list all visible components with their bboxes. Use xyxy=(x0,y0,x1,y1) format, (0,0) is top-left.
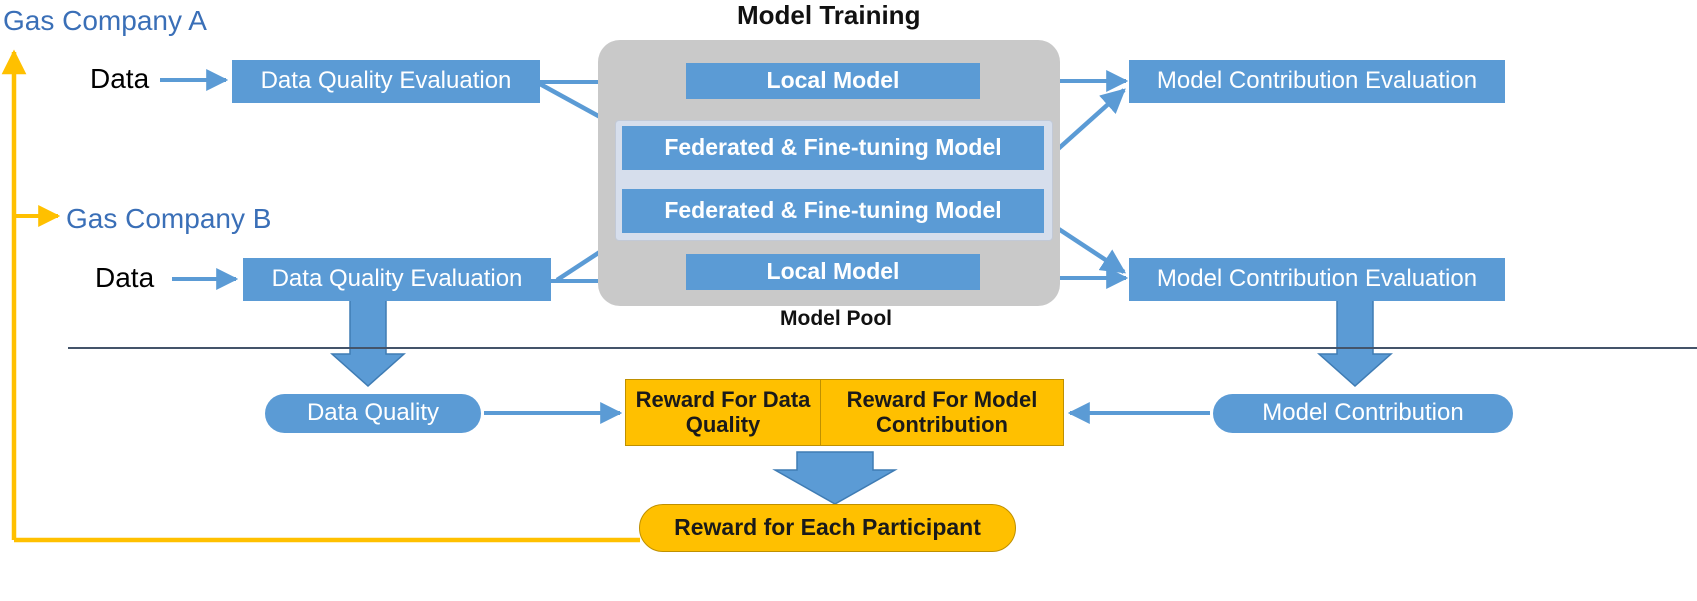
model-pool-item-local-model-bottom-label: Local Model xyxy=(767,259,900,285)
final-reward-label: Reward for Each Participant xyxy=(674,515,981,541)
model-contribution-pill-label: Model Contribution xyxy=(1262,400,1463,427)
block-arrow-down-data-quality xyxy=(332,300,404,386)
model-pool-title: Model Pool xyxy=(780,307,892,331)
data-quality-pill[interactable]: Data Quality xyxy=(265,394,481,433)
reward-for-data-quality-label: Reward For Data Quality xyxy=(634,388,812,437)
final-reward-pill[interactable]: Reward for Each Participant xyxy=(639,504,1016,552)
model-contribution-evaluation-b-label: Model Contribution Evaluation xyxy=(1157,266,1477,293)
model-pool-item-federated-1[interactable]: Federated & Fine-tuning Model xyxy=(622,126,1044,170)
section-divider xyxy=(68,347,1697,349)
diagram-canvas: Model Training Model Pool Gas Company A … xyxy=(0,0,1697,601)
model-contribution-evaluation-a-label: Model Contribution Evaluation xyxy=(1157,68,1477,95)
company-label-a: Gas Company A xyxy=(3,5,207,37)
data-quality-evaluation-b-label: Data Quality Evaluation xyxy=(272,266,523,293)
block-arrow-down-final-reward xyxy=(775,452,895,504)
model-pool-item-local-model-top-label: Local Model xyxy=(767,68,900,94)
model-pool-item-federated-1-label: Federated & Fine-tuning Model xyxy=(664,135,1001,161)
data-quality-evaluation-b[interactable]: Data Quality Evaluation xyxy=(243,258,551,301)
reward-for-model-contribution-label: Reward For Model Contribution xyxy=(829,388,1055,437)
model-contribution-evaluation-b[interactable]: Model Contribution Evaluation xyxy=(1129,258,1505,301)
data-quality-pill-label: Data Quality xyxy=(307,400,439,427)
reward-for-data-quality-box[interactable]: Reward For Data Quality xyxy=(625,379,821,446)
reward-for-model-contribution-box[interactable]: Reward For Model Contribution xyxy=(820,379,1064,446)
model-training-title: Model Training xyxy=(737,0,920,31)
data-quality-evaluation-a[interactable]: Data Quality Evaluation xyxy=(232,60,540,103)
data-quality-evaluation-a-label: Data Quality Evaluation xyxy=(261,68,512,95)
model-pool-item-local-model-bottom[interactable]: Local Model xyxy=(686,254,980,290)
block-arrow-down-model-contribution xyxy=(1319,300,1391,386)
model-contribution-pill[interactable]: Model Contribution xyxy=(1213,394,1513,433)
model-pool-item-federated-2-label: Federated & Fine-tuning Model xyxy=(664,198,1001,224)
model-pool-item-federated-2[interactable]: Federated & Fine-tuning Model xyxy=(622,189,1044,233)
model-pool-item-local-model-top[interactable]: Local Model xyxy=(686,63,980,99)
model-contribution-evaluation-a[interactable]: Model Contribution Evaluation xyxy=(1129,60,1505,103)
data-label-b: Data xyxy=(95,262,154,294)
company-label-b: Gas Company B xyxy=(66,203,271,235)
data-label-a: Data xyxy=(90,63,149,95)
